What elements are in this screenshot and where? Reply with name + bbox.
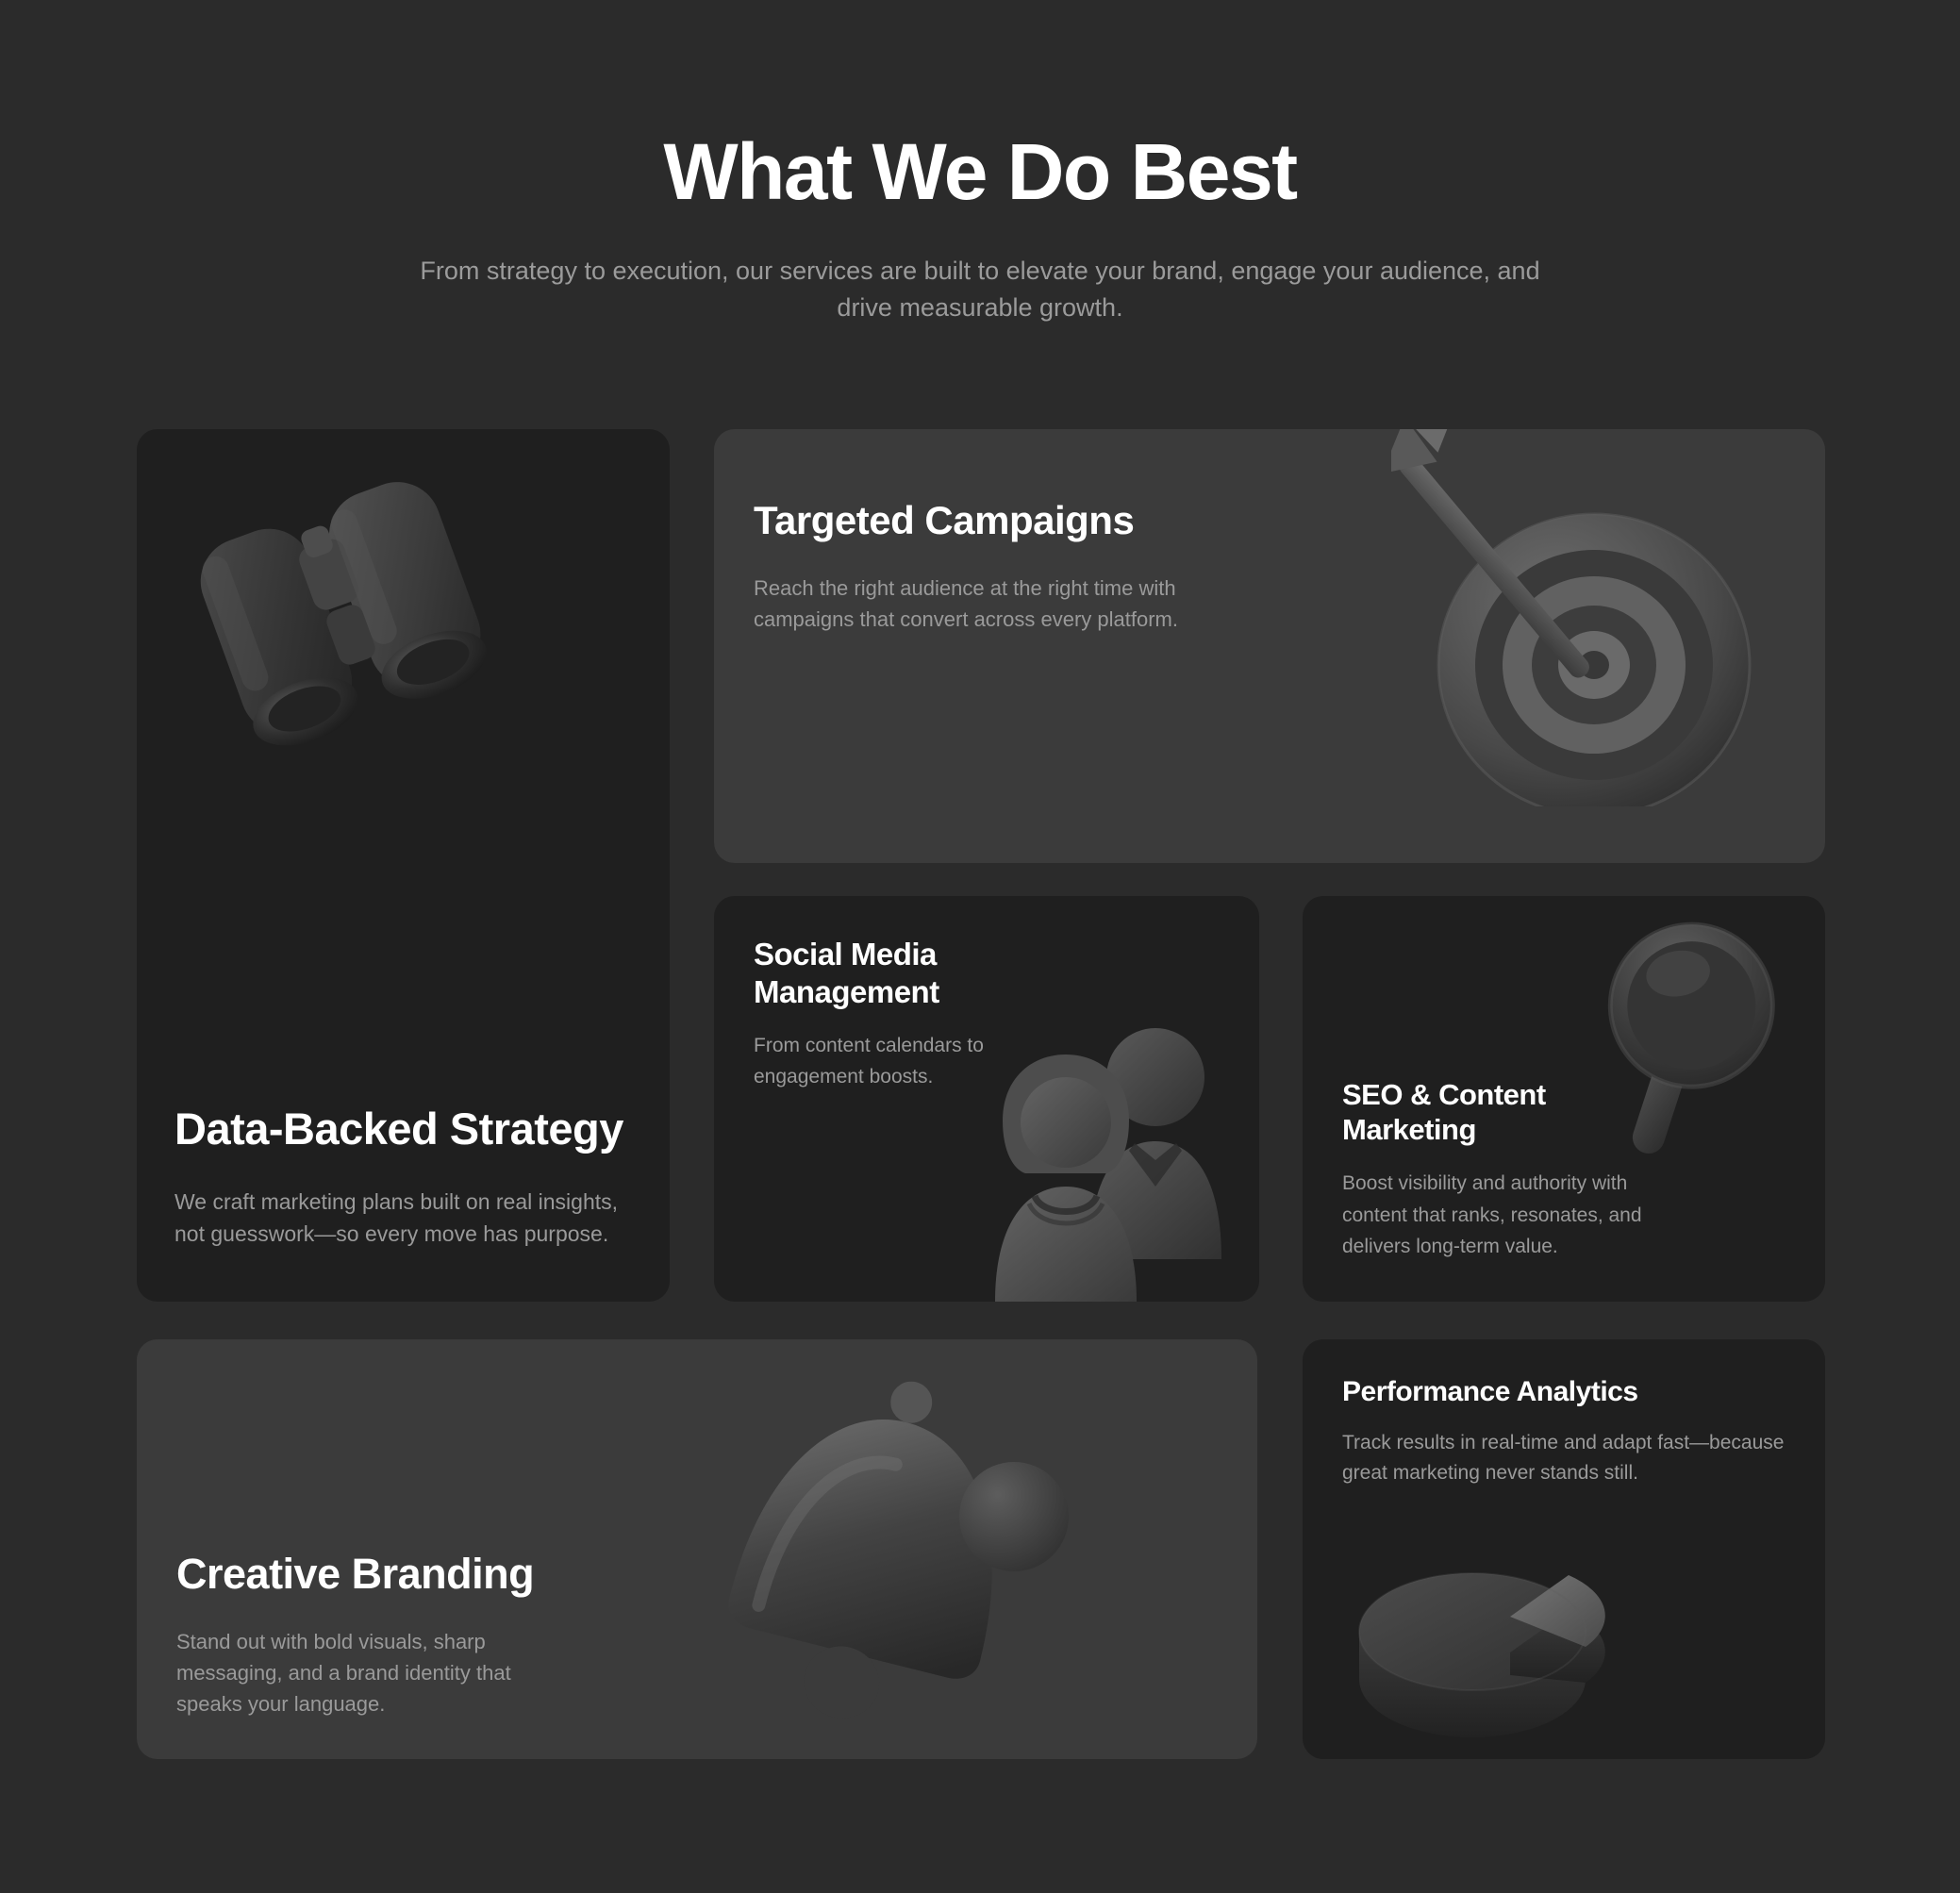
card-title: Social Media Management [754,936,989,1010]
service-card-seo-content[interactable]: SEO & Content Marketing Boost visibility… [1303,896,1825,1302]
card-description: Boost visibility and authority with cont… [1342,1168,1653,1262]
card-title: SEO & Content Marketing [1342,1077,1653,1147]
card-content: SEO & Content Marketing Boost visibility… [1342,1077,1653,1262]
service-card-creative-branding[interactable]: Creative Branding Stand out with bold vi… [137,1339,1257,1759]
card-content: Targeted Campaigns Reach the right audie… [754,497,1197,635]
services-grid: Data-Backed Strategy We craft marketing … [137,429,1825,1759]
services-section: What We Do Best From strategy to executi… [0,0,1960,1893]
section-header: What We Do Best From strategy to executi… [0,132,1960,327]
target-arrow-icon [1391,429,1797,806]
page-title: What We Do Best [0,132,1960,211]
card-title: Targeted Campaigns [754,497,1197,544]
pie-chart-icon [1340,1519,1642,1759]
card-description: We craft marketing plans built on real i… [174,1186,637,1250]
card-description: Track results in real-time and adapt fas… [1342,1428,1786,1487]
service-card-strategy[interactable]: Data-Backed Strategy We craft marketing … [137,429,670,1302]
service-card-performance-analytics[interactable]: Performance Analytics Track results in r… [1303,1339,1825,1759]
card-content: Data-Backed Strategy We craft marketing … [174,1103,637,1250]
card-title: Performance Analytics [1342,1375,1786,1409]
card-title: Creative Branding [176,1549,554,1600]
page-subtitle: From strategy to execution, our services… [390,253,1570,327]
card-description: Reach the right audience at the right ti… [754,573,1197,635]
people-icon [976,1009,1259,1302]
card-content: Performance Analytics Track results in r… [1342,1375,1786,1487]
service-card-targeted-campaigns[interactable]: Targeted Campaigns Reach the right audie… [714,429,1825,863]
card-description: From content calendars to engagement boo… [754,1031,989,1093]
service-card-social-media[interactable]: Social Media Management From content cal… [714,896,1259,1302]
bell-icon [663,1349,1088,1745]
card-title: Data-Backed Strategy [174,1103,637,1154]
card-content: Creative Branding Stand out with bold vi… [176,1549,554,1719]
card-content: Social Media Management From content cal… [754,936,989,1093]
binoculars-icon [189,434,585,773]
card-description: Stand out with bold visuals, sharp messa… [176,1626,554,1719]
